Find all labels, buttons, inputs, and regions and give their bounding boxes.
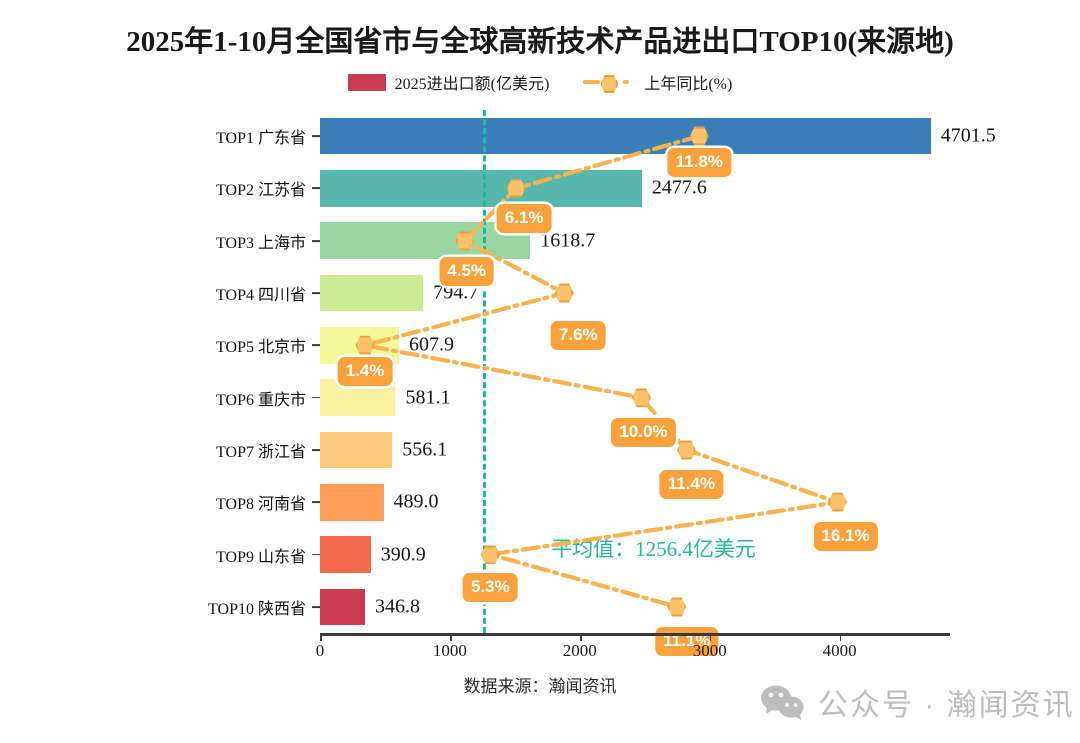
yoy-value-badge: 4.5% [439, 257, 494, 286]
bar-value-label: 4701.5 [941, 125, 996, 148]
bar-value-label: 556.1 [402, 438, 447, 461]
yoy-value-badge: 10.0% [611, 418, 675, 447]
legend-line-swatch-icon [583, 74, 635, 90]
yoy-value-badge: 11.4% [660, 470, 723, 499]
bar[interactable] [320, 589, 365, 626]
y-axis-label: TOP2 江苏省 [216, 176, 306, 200]
y-axis-label: TOP3 上海市 [216, 229, 306, 253]
yoy-marker[interactable] [555, 284, 574, 303]
bar-value-label: 2477.6 [652, 177, 707, 200]
legend-bar-swatch-icon [348, 74, 386, 91]
y-tick [312, 501, 320, 503]
x-tick-label: 3000 [693, 641, 727, 661]
bar-value-label: 390.9 [381, 543, 426, 566]
y-tick [312, 292, 320, 294]
bar[interactable] [320, 275, 423, 312]
y-axis-label: TOP10 陕西省 [208, 595, 306, 619]
x-axis-line [320, 633, 950, 636]
x-tick [450, 633, 452, 641]
x-tick [580, 633, 582, 641]
yoy-marker[interactable] [828, 493, 847, 512]
yoy-value-badge: 5.3% [463, 573, 518, 602]
yoy-marker[interactable] [667, 597, 686, 616]
bar[interactable] [320, 170, 642, 207]
y-tick [312, 397, 320, 399]
bar[interactable] [320, 536, 371, 573]
y-axis-label: TOP4 四川省 [216, 281, 306, 305]
x-tick [710, 633, 712, 641]
chart-legend: 2025进出口额(亿美元) 上年同比(%) [0, 70, 1080, 94]
y-tick [312, 449, 320, 451]
y-tick [312, 606, 320, 608]
y-axis-label: TOP1 广东省 [216, 124, 306, 148]
plot-area: 4701.52477.61618.7794.7607.9581.1556.148… [320, 110, 950, 633]
bar-value-label: 489.0 [394, 491, 439, 514]
yoy-value-badge: 6.1% [497, 204, 552, 233]
x-tick-label: 0 [316, 641, 325, 661]
page-title: 2025年1-10月全国省市与全球高新技术产品进出口TOP10(来源地) [0, 18, 1080, 60]
y-axis-label: TOP6 重庆市 [216, 386, 306, 410]
y-tick [312, 135, 320, 137]
x-tick [840, 633, 842, 641]
yoy-value-badge: 7.6% [551, 321, 606, 350]
bar-value-label: 1618.7 [540, 229, 595, 252]
y-tick [312, 344, 320, 346]
x-tick [320, 633, 322, 641]
y-tick [312, 554, 320, 556]
legend-line-label: 上年同比(%) [644, 70, 732, 94]
y-axis-label: TOP5 北京市 [216, 333, 306, 357]
legend-item-line[interactable]: 上年同比(%) [583, 70, 732, 94]
bar-value-label: 607.9 [409, 334, 454, 357]
y-tick [312, 240, 320, 242]
watermark: 公众号 · 瀚闻资讯 [760, 680, 1075, 724]
bar-value-label: 581.1 [405, 386, 450, 409]
bar[interactable] [320, 118, 931, 155]
average-label: 平均值：1256.4亿美元 [551, 533, 756, 563]
x-tick-label: 2000 [563, 641, 597, 661]
yoy-value-badge: 1.4% [338, 357, 393, 386]
y-axis-label: TOP8 河南省 [216, 490, 306, 514]
legend-bar-label: 2025进出口额(亿美元) [395, 70, 550, 94]
watermark-text: 公众号 · 瀚闻资讯 [818, 680, 1075, 724]
yoy-value-badge: 16.1% [813, 522, 877, 551]
yoy-marker[interactable] [632, 388, 651, 407]
y-axis-label: TOP9 山东省 [216, 543, 306, 567]
legend-item-bar[interactable]: 2025进出口额(亿美元) [348, 70, 550, 94]
x-tick-label: 1000 [433, 641, 467, 661]
y-tick [312, 188, 320, 190]
bar-value-label: 346.8 [375, 595, 420, 618]
yoy-marker[interactable] [677, 440, 696, 459]
y-axis-label: TOP7 浙江省 [216, 438, 306, 462]
bar[interactable] [320, 484, 384, 521]
wechat-icon [760, 684, 806, 720]
yoy-value-badge: 11.8% [668, 148, 731, 177]
bar[interactable] [320, 432, 392, 469]
chart-canvas: 2025年1-10月全国省市与全球高新技术产品进出口TOP10(来源地) 202… [0, 0, 1080, 743]
x-tick-label: 4000 [823, 641, 857, 661]
